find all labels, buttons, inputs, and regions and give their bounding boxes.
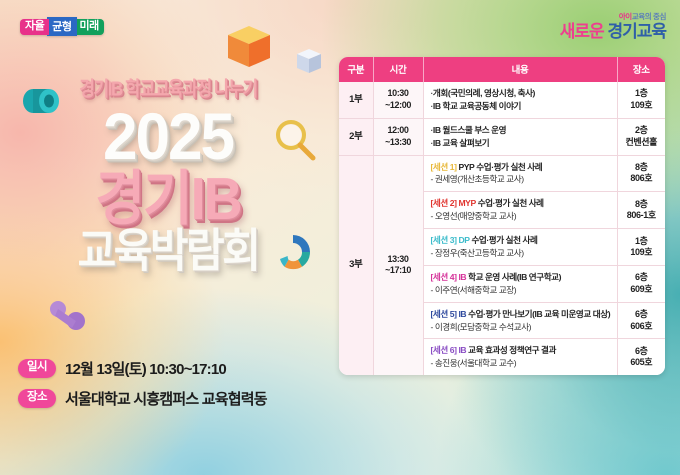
session-tag: [세션 3] [431,235,457,245]
info-tag-venue: 장소 [18,389,56,408]
cell-content: ·IB 월드스쿨 부스 운영·IB 교육 살펴보기 [423,118,617,155]
magnifier-icon [272,117,318,163]
session-code: IB [458,272,466,282]
content-line: ·개회(국민의례, 영상시청, 축사) [431,87,613,100]
session-tag: [세션 6] [431,345,457,355]
info-row-venue: 장소 서울대학교 시흥캠퍼스 교육협력동 [18,388,334,409]
schedule-table-body: 1부10:30~12:00·개회(국민의례, 영상시청, 축사)·IB 학교 교… [339,82,665,375]
session-tag: [세션 2] [431,198,457,208]
brand-mainline-blue: 경기교육 [607,22,666,41]
cell-content: [세션 4] IB 학교 운영 사례(IB 연구학교)- 이주연(서해중학교 교… [423,265,617,302]
session-speaker: - 이주연(서해중학교 교장) [431,284,613,297]
content-line: ·IB 교육 살펴보기 [431,137,613,150]
session-title: 교육 효과성 정책연구 결과 [468,345,556,355]
logo-chip-future: 미래 [75,19,104,35]
session-code: DP [458,235,469,245]
cell-content: [세션 5] IB 수업·평가 만나보기(IB 교육 미운영교 대상)- 이경희… [423,302,617,339]
info-row-date: 일시 12월 13일(토) 10:30~17:10 [18,358,334,379]
hero-year: 2025 [103,107,233,168]
poster-canvas: 자율 균형 미래 아이교육의 중심 새로운 경기교육 경기IB 학교교육과정 나… [0,0,680,475]
brand-logo: 자율 균형 미래 [20,17,104,36]
session-tag: [세션 1] [431,162,457,172]
session-speaker: - 오영선(매양중학교 교사) [431,210,613,223]
session-title-line: [세션 2] MYP 수업·평가 실천 사례 [431,197,613,210]
table-row: 3부13:30~17:10[세션 1] PYP 수업·평가 실천 사례- 권세영… [339,155,665,192]
session-speaker: - 송진웅(서울대학교 교수) [431,357,613,370]
session-tag: [세션 4] [431,272,457,282]
bullet-icon: · [431,138,433,148]
ring-logo-icon [272,231,314,273]
cell-content: [세션 2] MYP 수업·평가 실천 사례- 오영선(매양중학교 교사) [423,192,617,229]
cell-place: 6층609호 [617,265,665,302]
session-title-line: [세션 1] PYP 수업·평가 실천 사례 [431,161,613,174]
session-title-line: [세션 4] IB 학교 운영 사례(IB 연구학교) [431,271,613,284]
info-tag-date: 일시 [18,359,56,378]
cell-content: ·개회(국민의례, 영상시청, 축사)·IB 학교 교육공동체 이야기 [423,82,617,118]
hero-main-line-1: 경기IB [0,170,336,227]
header-time: 시간 [373,57,423,82]
cell-time: 10:30~12:00 [373,82,423,118]
white-cube-icon [296,48,322,74]
cell-place: 2층컨벤션홀 [617,118,665,155]
session-title-line: [세션 6] IB 교육 효과성 정책연구 결과 [431,344,613,357]
session-speaker: - 이경희(모담중학교 수석교사) [431,321,613,334]
session-code: IB [458,309,466,319]
bullet-icon: · [431,101,433,111]
session-speaker: - 권세영(개산초등학교 교사) [431,173,613,186]
header-place: 장소 [617,57,665,82]
cell-place: 6층606호 [617,302,665,339]
content-line: ·IB 월드스쿨 부스 운영 [431,124,613,137]
hero-tagline: 경기IB 학교교육과정 나누기 [0,72,336,102]
info-text-venue: 서울대학교 시흥캠퍼스 교육협력동 [65,388,267,409]
cell-part: 2부 [339,118,373,155]
brand-mainline-pink: 새로운 [560,22,604,41]
cell-part: 1부 [339,82,373,118]
cell-place: 1층109호 [617,229,665,266]
hero-main-line-2-row: 교육박람회 [0,229,336,273]
schedule-table-panel: 구분 시간 내용 장소 1부10:30~12:00·개회(국민의례, 영상시청,… [339,57,665,375]
logo-chip-balance: 균형 [47,17,76,36]
hero-main-line-2: 교육박람회 [78,227,259,275]
info-text-date: 12월 13일(토) 10:30~17:10 [65,358,226,379]
brand-superline-accent: 아이 [619,12,632,21]
cell-place: 8층806호 [617,155,665,192]
header-category: 구분 [339,57,373,82]
cell-content: [세션 6] IB 교육 효과성 정책연구 결과- 송진웅(서울대학교 교수) [423,339,617,375]
session-title-line: [세션 3] DP 수업·평가 실천 사례 [431,234,613,247]
bullet-icon: · [431,125,433,135]
gyeonggi-education-brand: 아이교육의 중심 새로운 경기교육 [560,13,666,41]
content-line: ·IB 학교 교육공동체 이야기 [431,100,613,113]
table-row: 2부12:00~13:30·IB 월드스쿨 부스 운영·IB 교육 살펴보기2층… [339,118,665,155]
cell-place: 8층806-1호 [617,192,665,229]
cell-time: 13:30~17:10 [373,155,423,375]
event-info-block: 일시 12월 13일(토) 10:30~17:10 장소 서울대학교 시흥캠퍼스… [18,358,334,418]
purple-blob-icon [48,300,88,330]
orange-cube-icon [226,24,272,70]
session-code: PYP [458,162,474,172]
bullet-icon: · [431,88,433,98]
schedule-table-head: 구분 시간 내용 장소 [339,57,665,82]
header-content: 내용 [423,57,617,82]
cell-part: 3부 [339,155,373,375]
schedule-header-row: 구분 시간 내용 장소 [339,57,665,82]
session-title: 수업·평가 만나보기(IB 교육 미운영교 대상) [468,309,610,319]
session-title: 학교 운영 사례(IB 연구학교) [468,272,561,282]
session-speaker: - 장정우(죽산고등학교 교사) [431,247,613,260]
cell-time: 12:00~13:30 [373,118,423,155]
session-code: IB [458,345,466,355]
logo-chip-autonomy: 자율 [20,19,49,35]
session-title: 수업·평가 실천 사례 [471,235,537,245]
brand-superline-rest: 교육의 중심 [632,12,666,21]
cell-place: 1층109호 [617,82,665,118]
brand-superline: 아이교육의 중심 [560,13,666,21]
hero-title-block: 경기IB 학교교육과정 나누기 2025 경기IB 교육박람회 [0,74,336,273]
session-tag: [세션 5] [431,309,457,319]
cell-content: [세션 3] DP 수업·평가 실천 사례- 장정우(죽산고등학교 교사) [423,229,617,266]
schedule-table: 구분 시간 내용 장소 1부10:30~12:00·개회(국민의례, 영상시청,… [339,57,665,375]
brand-mainline: 새로운 경기교육 [560,23,666,41]
table-row: 1부10:30~12:00·개회(국민의례, 영상시청, 축사)·IB 학교 교… [339,82,665,118]
cell-content: [세션 1] PYP 수업·평가 실천 사례- 권세영(개산초등학교 교사) [423,155,617,192]
session-title: 수업·평가 실천 사례 [476,162,542,172]
hero-year-row: 2025 [0,109,336,169]
cell-place: 6층605호 [617,339,665,375]
session-code: MYP [458,198,475,208]
session-title-line: [세션 5] IB 수업·평가 만나보기(IB 교육 미운영교 대상) [431,308,613,321]
session-title: 수업·평가 실천 사례 [478,198,544,208]
